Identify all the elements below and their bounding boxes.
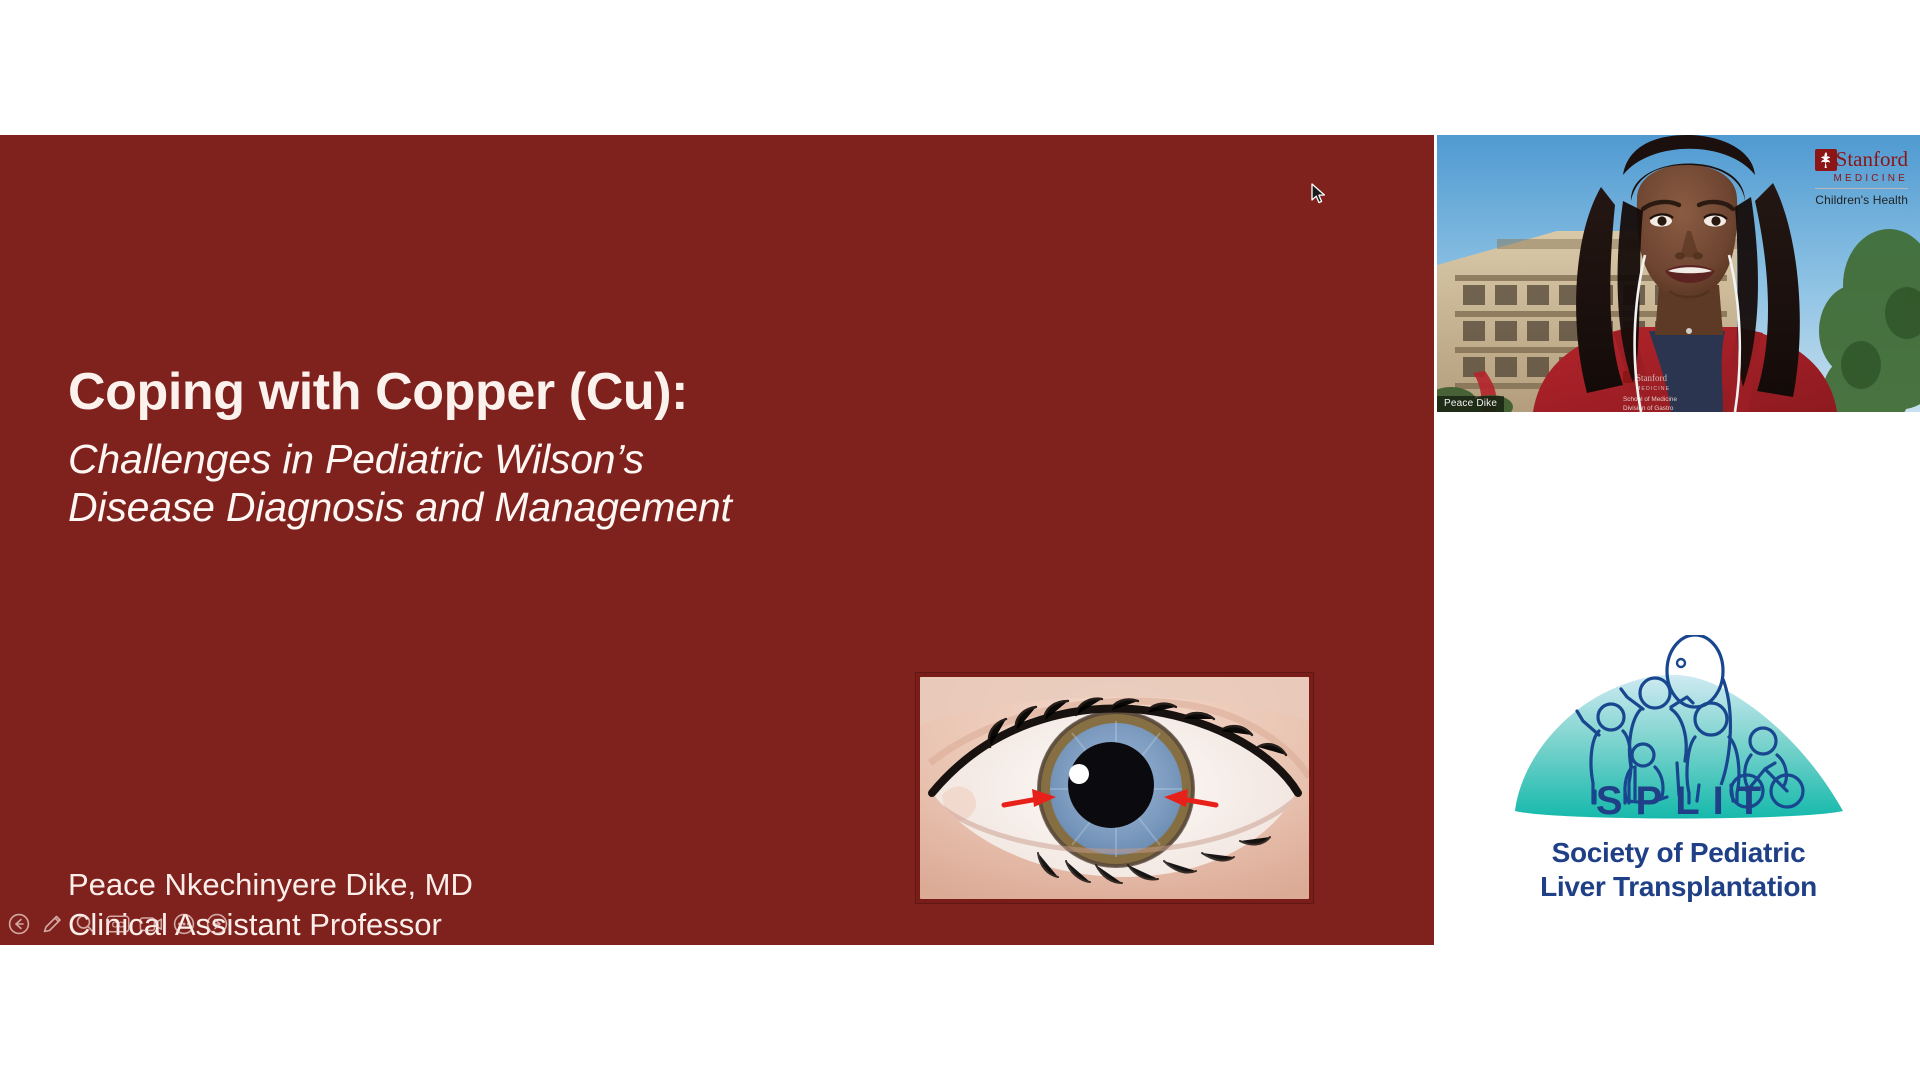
forward-arrow-icon[interactable] (204, 911, 230, 937)
back-arrow-icon[interactable] (6, 911, 32, 937)
annotation-toolbar[interactable]: CC (6, 911, 230, 937)
kayser-fleischer-ring-eye-photo (916, 673, 1313, 903)
childrens-health-label: Children's Health (1815, 193, 1908, 207)
svg-text:CC: CC (112, 920, 124, 930)
stanford-tree-shield-icon (1815, 149, 1837, 171)
svg-text:Stanford: Stanford (1636, 373, 1667, 383)
participant-name-label: Peace Dike (1437, 396, 1504, 412)
svg-text:MEDICINE: MEDICINE (1636, 386, 1670, 392)
closed-caption-icon[interactable]: CC (105, 911, 131, 937)
svg-text:School of Medicine: School of Medicine (1623, 396, 1677, 403)
logo-divider (1815, 188, 1908, 189)
mouse-pointer (1311, 183, 1327, 205)
split-tagline: Society of Pediatric Liver Transplantati… (1479, 836, 1879, 904)
stanford-wordmark: Stanford (1836, 149, 1908, 170)
split-acronym: SPLIT (1479, 779, 1879, 824)
svg-text:Division of Gastro: Division of Gastro (1623, 405, 1674, 412)
split-logo-panel: SPLIT Society of Pediatric Liver Transpl… (1437, 420, 1920, 1080)
stanford-medicine-logo: Stanford MEDICINE Children's Health (1815, 149, 1908, 207)
more-options-icon[interactable] (171, 911, 197, 937)
pencil-icon[interactable] (39, 911, 65, 937)
split-logo: SPLIT Society of Pediatric Liver Transpl… (1479, 635, 1879, 904)
split-tagline-line-2: Liver Transplantation (1479, 870, 1879, 904)
screen-share-stage: Coping with Copper (Cu): Challenges in P… (0, 0, 1920, 1080)
slide-subtitle-line-1: Challenges in Pediatric Wilson’s (68, 435, 968, 483)
split-tagline-line-1: Society of Pediatric (1479, 836, 1879, 870)
video-camera-icon[interactable] (138, 911, 164, 937)
slide-title: Coping with Copper (Cu): (68, 365, 688, 420)
slide-subtitle: Challenges in Pediatric Wilson’s Disease… (68, 435, 968, 532)
slide-content: Coping with Copper (Cu): Challenges in P… (0, 135, 1434, 945)
presenter-name: Peace Nkechinyere Dike, MD (68, 865, 473, 905)
shared-slide[interactable]: Coping with Copper (Cu): Challenges in P… (0, 135, 1434, 945)
presenter-video-tile[interactable]: Stanford MEDICINE School of Medicine Div… (1437, 135, 1920, 412)
slide-subtitle-line-2: Disease Diagnosis and Management (68, 483, 968, 531)
eye-photo-canvas (920, 677, 1309, 899)
stanford-medicine-label: MEDICINE (1815, 173, 1908, 184)
magnifier-icon[interactable] (72, 911, 98, 937)
